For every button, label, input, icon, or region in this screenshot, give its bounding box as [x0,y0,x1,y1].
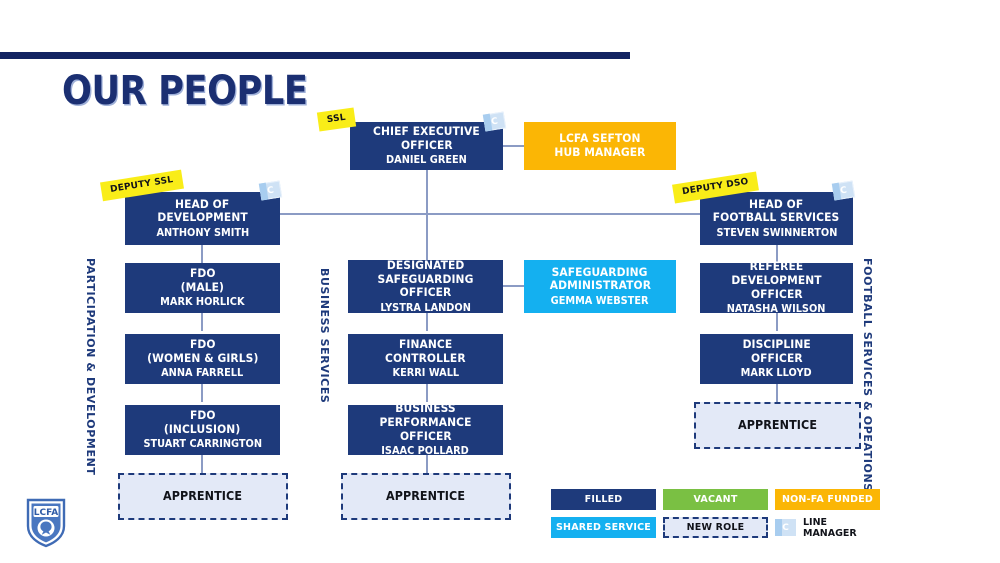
legend-item-shared-service: SHARED SERVICE [551,517,656,538]
connector-fdoincl-apprentice [201,455,203,473]
line-manager-icon-letter: C [839,185,847,196]
node-role-line1: LCFA SEFTON [559,132,640,146]
node-role-line1: APPRENTICE [738,418,817,432]
node-role-line2: OFFICER [751,288,803,302]
department-label-business: BUSINESS SERVICES [318,268,331,403]
connector-discipline-apprentice [776,384,778,402]
connector-dso-to-admin [503,285,525,287]
node-role-line2: (MALE) [181,281,224,295]
node-head-of-development[interactable]: HEAD OF DEVELOPMENT ANTHONY SMITH [125,192,280,245]
node-role-line1: BUSINESS PERFORMANCE [359,402,492,429]
legend-item-non-fa-funded: NON-FA FUNDED [775,489,880,510]
node-person: ISAAC POLLARD [382,445,469,457]
node-role-line2: OFFICER [400,430,452,444]
node-person: NATASHA WILSON [727,303,826,315]
legend-item-line-manager: C LINE MANAGER [775,517,880,538]
node-person: KERRI WALL [392,367,459,379]
legend: FILLED VACANT NON-FA FUNDED SHARED SERVI… [551,489,880,545]
line-manager-icon: C [832,180,855,200]
node-role-line1: APPRENTICE [163,489,242,503]
connector-dso-finance [426,313,428,331]
node-person: GEMMA WEBSTER [551,295,649,307]
node-role-line1: FDO [190,267,216,281]
node-role-line1: FINANCE [399,338,452,352]
node-person: ANTHONY SMITH [156,227,249,239]
node-apprentice-participation[interactable]: APPRENTICE [118,473,288,520]
node-role-line1: DISCIPLINE [742,338,810,352]
node-role-line2: (WOMEN & GIRLS) [147,352,258,366]
connector-headdev-fdomale [201,245,203,263]
connector-bpo-apprentice [426,455,428,473]
page-title: OUR PEOPLE [62,68,308,114]
svg-text:LCFA: LCFA [34,508,58,518]
node-chief-executive-officer[interactable]: CHIEF EXECUTIVE OFFICER DANIEL GREEN [350,122,503,170]
department-label-participation: PARTICIPATION & DEVELOPMENT [84,258,97,476]
legend-item-vacant: VACANT [663,489,768,510]
node-referee-development-officer[interactable]: REFEREE DEVELOPMENT OFFICER NATASHA WILS… [700,263,853,313]
line-manager-icon: C [483,111,506,131]
node-person: DANIEL GREEN [386,154,467,166]
node-lcfa-sefton-hub-manager[interactable]: LCFA SEFTON HUB MANAGER [524,122,676,170]
node-finance-controller[interactable]: FINANCE CONTROLLER KERRI WALL [348,334,503,384]
line-manager-icon-letter: C [490,116,498,127]
legend-line-manager-label: LINE MANAGER [803,517,880,539]
node-role-line2: SAFEGUARDING OFFICER [359,273,492,300]
node-role-line1: APPRENTICE [386,489,465,503]
connector-finance-bpo [426,384,428,402]
node-role-line1: REFEREE DEVELOPMENT [711,260,842,287]
connector-fdowomen-fdoincl [201,384,203,402]
node-role-line1: SAFEGUARDING [552,266,648,280]
node-role-line2: DEVELOPMENT [157,211,247,225]
lcfa-logo: LCFA [24,496,68,548]
line-manager-icon: C [775,519,796,536]
node-person: MARK HORLICK [160,296,244,308]
header-accent-bar [0,52,630,59]
node-role-line1: HEAD OF [175,198,229,212]
node-designated-safeguarding-officer[interactable]: DESIGNATED SAFEGUARDING OFFICER LYSTRA L… [348,260,503,313]
line-manager-icon-letter: C [782,523,789,533]
legend-row-1: FILLED VACANT NON-FA FUNDED [551,489,880,510]
connector-ceo-down [426,170,428,214]
node-person: STEVEN SWINNERTON [716,227,837,239]
node-role-line2: HUB MANAGER [554,146,645,160]
line-manager-icon: C [259,180,282,200]
connector-heads-horizontal [280,213,700,215]
node-fdo-inclusion[interactable]: FDO (INCLUSION) STUART CARRINGTON [125,405,280,455]
node-role-line1: CHIEF EXECUTIVE [373,125,480,139]
node-safeguarding-administrator[interactable]: SAFEGUARDING ADMINISTRATOR GEMMA WEBSTER [524,260,676,313]
connector-ceo-to-sefton [503,145,525,147]
node-role-line1: HEAD OF [749,198,803,212]
legend-row-2: SHARED SERVICE NEW ROLE C LINE MANAGER [551,517,880,538]
node-fdo-male[interactable]: FDO (MALE) MARK HORLICK [125,263,280,313]
node-role-line1: DESIGNATED [387,259,464,273]
node-person: STUART CARRINGTON [143,438,262,450]
node-head-of-football-services[interactable]: HEAD OF FOOTBALL SERVICES STEVEN SWINNER… [700,192,853,245]
node-role-line2: (INCLUSION) [164,423,240,437]
node-discipline-officer[interactable]: DISCIPLINE OFFICER MARK LLOYD [700,334,853,384]
node-role-line2: FOOTBALL SERVICES [713,211,840,225]
node-person: ANNA FARRELL [161,367,243,379]
node-apprentice-business[interactable]: APPRENTICE [341,473,511,520]
connector-fdomale-fdowomen [201,313,203,331]
node-role-line1: FDO [190,409,216,423]
node-role-line2: OFFICER [401,139,453,153]
node-role-line1: FDO [190,338,216,352]
node-apprentice-football[interactable]: APPRENTICE [694,402,861,449]
connector-ceo-to-dso [426,214,428,260]
node-person: MARK LLOYD [741,367,812,379]
node-role-line2: ADMINISTRATOR [549,279,650,293]
legend-item-new-role: NEW ROLE [663,517,768,538]
node-role-line2: CONTROLLER [385,352,466,366]
node-fdo-women-and-girls[interactable]: FDO (WOMEN & GIRLS) ANNA FARRELL [125,334,280,384]
node-role-line2: OFFICER [751,352,803,366]
node-business-performance-officer[interactable]: BUSINESS PERFORMANCE OFFICER ISAAC POLLA… [348,405,503,455]
line-manager-icon-letter: C [266,185,274,196]
connector-referee-discipline [776,313,778,331]
department-label-football: FOOTBALL SERVICES & OPEATIONS [861,258,874,492]
org-chart-canvas: OUR PEOPLE CHIEF EXECUTIVE OFFICER DANIE… [0,0,1000,563]
legend-item-filled: FILLED [551,489,656,510]
node-person: LYSTRA LANDON [380,302,470,314]
